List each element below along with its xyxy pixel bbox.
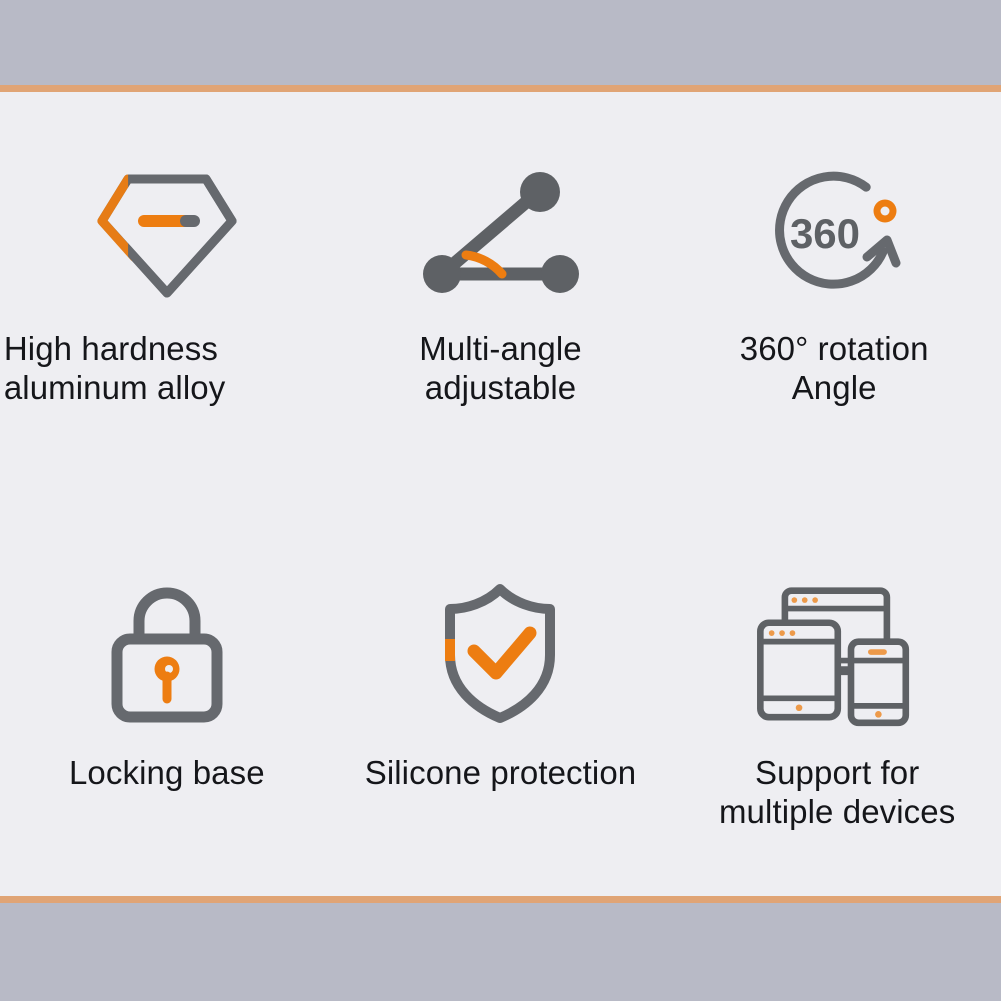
- product-feature-infographic: High hardness aluminum alloy Multi-angle…: [0, 0, 1001, 1001]
- feature-item-360-rotation-angle: 360 360° rotation Angle: [667, 92, 1001, 494]
- bottom-frame-band: [0, 903, 1001, 1001]
- angle-vertices-icon: [415, 160, 585, 310]
- rotation-360-label: 360: [790, 210, 860, 257]
- feature-item-locking-base: Locking base: [0, 494, 334, 896]
- phone-device-icon: [851, 641, 906, 722]
- shield-check-icon: [415, 572, 585, 732]
- multiple-devices-icon: [749, 572, 919, 732]
- rotation-360-icon: 360: [749, 160, 919, 310]
- feature-item-high-hardness-aluminum-alloy: High hardness aluminum alloy: [0, 92, 334, 494]
- feature-caption: Silicone protection: [365, 754, 637, 793]
- feature-caption: 360° rotation Angle: [740, 330, 929, 408]
- feature-item-silicone-protection: Silicone protection: [334, 494, 668, 896]
- feature-caption: Support for multiple devices: [687, 754, 987, 832]
- top-orange-rule: [0, 85, 1001, 92]
- padlock-icon: [82, 572, 252, 732]
- bottom-orange-rule: [0, 896, 1001, 903]
- feature-panel: High hardness aluminum alloy Multi-angle…: [0, 92, 1001, 896]
- feature-caption: Multi-angle adjustable: [419, 330, 582, 408]
- diamond-gem-icon: [82, 160, 252, 310]
- top-frame-band: [0, 0, 1001, 85]
- tablet-device-icon: [760, 622, 837, 716]
- feature-grid: High hardness aluminum alloy Multi-angle…: [0, 92, 1001, 896]
- feature-item-multi-angle-adjustable: Multi-angle adjustable: [334, 92, 668, 494]
- feature-caption: High hardness aluminum alloy: [4, 330, 264, 408]
- feature-caption: Locking base: [69, 754, 265, 793]
- feature-item-support-for-multiple-devices: Support for multiple devices: [667, 494, 1001, 896]
